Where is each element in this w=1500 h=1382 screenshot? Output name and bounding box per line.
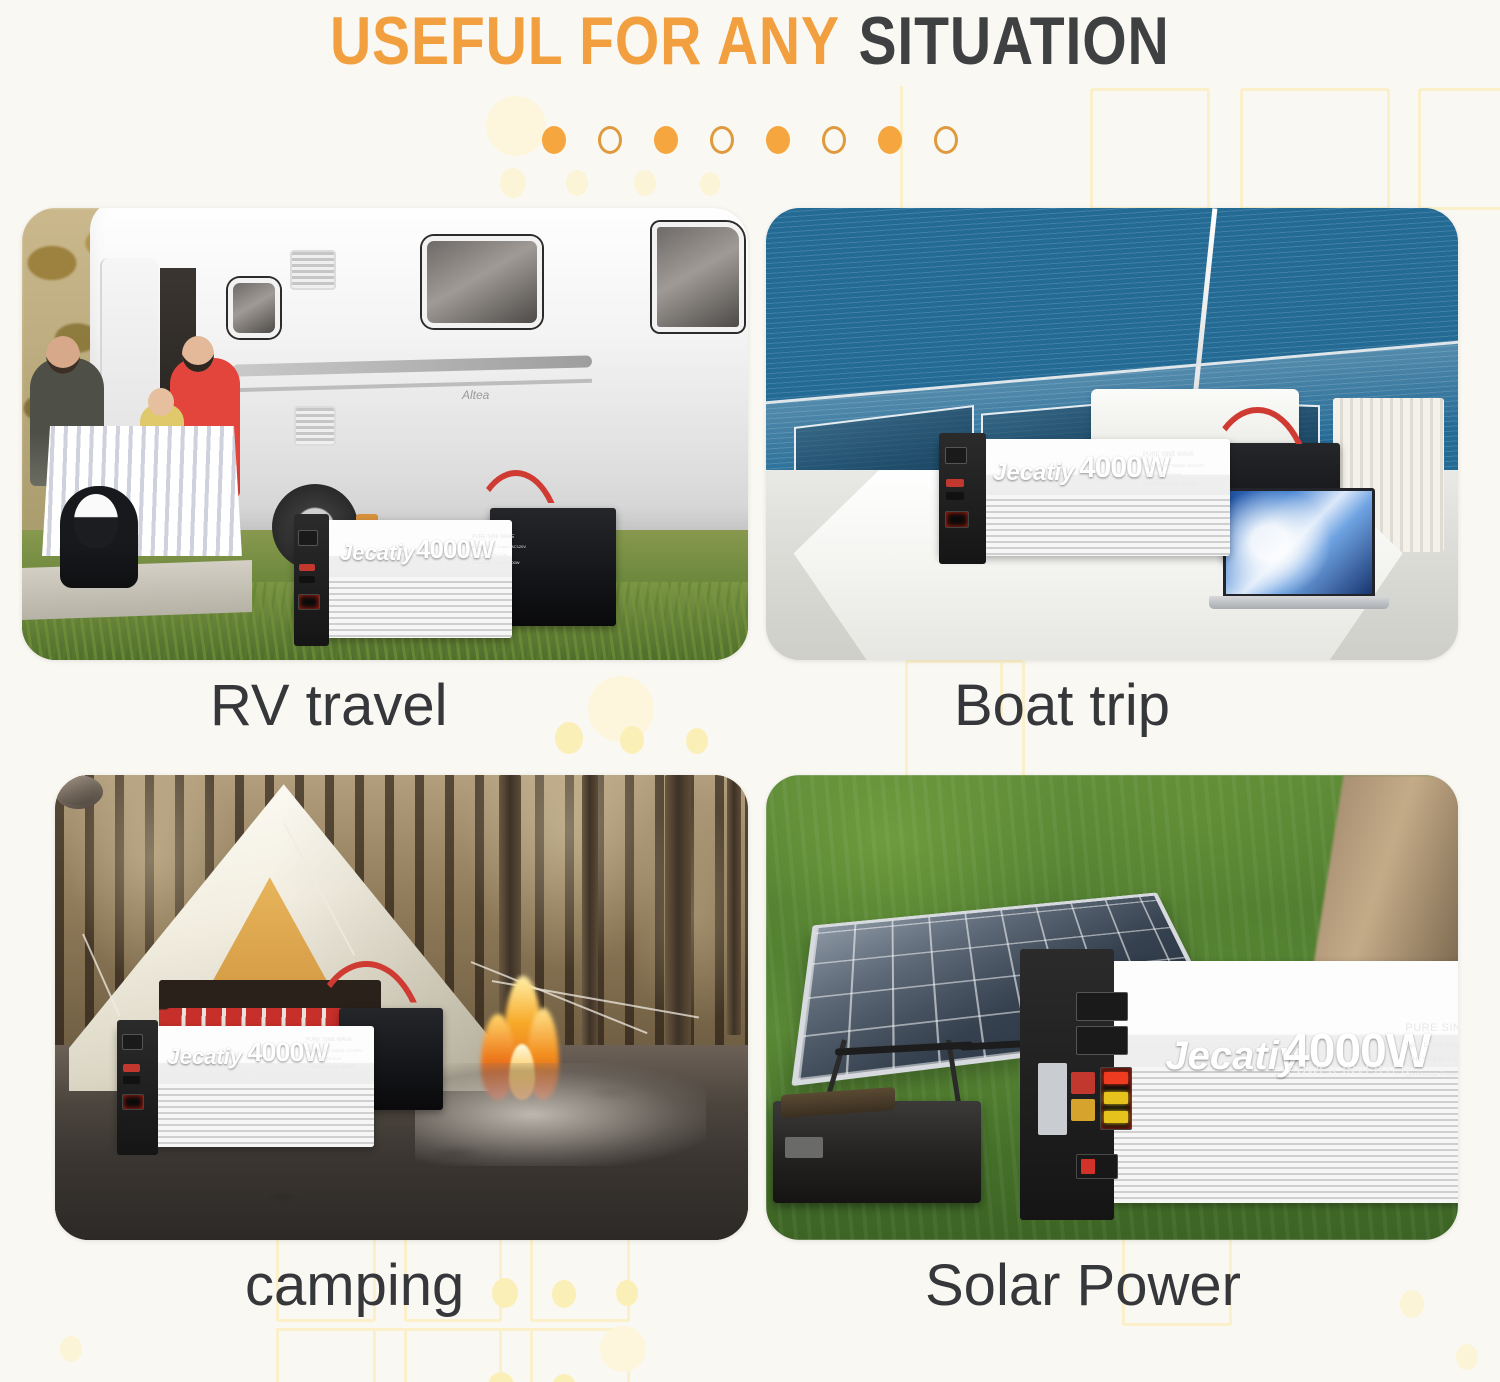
panel-solar-power: Jecatiy 4000W POWER INVERTER PURE SINE W… [766, 775, 1458, 1240]
separator-dot-outline [598, 126, 622, 154]
inverter-brand: Jecatiy [993, 459, 1074, 487]
background-dot [566, 170, 588, 196]
inverter-brand: Jecatiy [167, 1044, 242, 1070]
inverter-brand: Jecatiy [340, 540, 415, 566]
rv-badge: Altea [462, 388, 489, 402]
separator-dot-outline [934, 126, 958, 154]
photo-camping: Jecatiy 4000W POWER INVERTER PURE SINE W… [55, 775, 748, 1240]
inverter-brand: Jecatiy [1165, 1034, 1301, 1079]
separator-dot-outline [710, 126, 734, 154]
photo-rv-travel: Altea [22, 208, 748, 660]
fire-ash [415, 1063, 706, 1165]
title-emphasis: SITUATION [859, 3, 1170, 79]
inverter-spec-line: Continuous Power: 4000W [1405, 1070, 1458, 1079]
inverter-spec-line: Continuous Power: 4000W [1143, 481, 1197, 488]
photo-solar-power: Jecatiy 4000W POWER INVERTER PURE SINE W… [766, 775, 1458, 1240]
inverter-spec-line: 60HZ USB 5V 2.4A [1143, 472, 1182, 479]
separator-dot-filled [654, 126, 678, 154]
power-box [773, 1101, 981, 1203]
inverter-spec-line: Continuous Power: 4000W [305, 1064, 355, 1070]
inverter-spec-title: PURE SINE WAVE [305, 1037, 352, 1045]
panel-boat-trip: Jecatiy 4000W POWER INVERTER PURE SINE W… [766, 208, 1458, 660]
inverter-device: Jecatiy 4000W POWER INVERTER PURE SINE W… [117, 1026, 373, 1147]
page-title: USEFUL FOR ANYSITUATION [0, 0, 1500, 82]
panel-rv-travel: Altea [22, 208, 748, 660]
separator-dot-filled [766, 126, 790, 154]
inverter-spec-line: 60HZ USB 5V 2.4A [305, 1056, 341, 1062]
inverter-device: Jecatiy 4000W POWER INVERTER PURE SINE W… [939, 439, 1230, 557]
background-dot [500, 168, 526, 198]
inverter-spec-line: Input: DC12V Output: AC120V [472, 544, 526, 550]
separator-dot-filled [542, 126, 566, 154]
laptop [1223, 488, 1375, 596]
panel-camping: Jecatiy 4000W POWER INVERTER PURE SINE W… [55, 775, 748, 1240]
background-dot [700, 172, 720, 196]
inverter-spec-line: Input: DC12V Output: AC120V [1405, 1041, 1458, 1050]
separator-dot-filled [878, 126, 902, 154]
background-dot [634, 170, 656, 196]
inverter-spec-title: PURE SINE WAVE [1405, 1021, 1458, 1037]
use-case-grid: Altea [0, 200, 1500, 1380]
inverter-device: Jecatiy 4000W POWER INVERTER PURE SINE W… [294, 520, 512, 638]
dot-separator [0, 126, 1500, 154]
caption-solar-power: Solar Power [925, 1252, 1500, 1319]
separator-dot-outline [822, 126, 846, 154]
photo-boat-trip: Jecatiy 4000W POWER INVERTER PURE SINE W… [766, 208, 1458, 660]
caption-boat-trip: Boat trip [954, 672, 1500, 739]
inverter-subtitle: POWER INVERTER [1288, 1063, 1411, 1077]
title-accent: USEFUL FOR ANY [330, 3, 840, 79]
inverter-spec-title: PURE SINE WAVE [472, 534, 515, 541]
inverter-spec-line: Continuous Power: 4000W [472, 560, 520, 566]
inverter-spec-title: PURE SINE WAVE [1143, 451, 1194, 460]
inverter-spec-line: 60HZ USB 5V 2.4A [1405, 1055, 1458, 1064]
inverter-spec-line: 60HZ USB 5V 2.4A [472, 552, 506, 558]
inverter-device: Jecatiy 4000W POWER INVERTER PURE SINE W… [1029, 961, 1458, 1203]
inverter-spec-line: Input: DC12V Output: AC120V [305, 1048, 362, 1054]
inverter-spec-line: Input: DC12V Output: AC120V [1143, 463, 1204, 470]
